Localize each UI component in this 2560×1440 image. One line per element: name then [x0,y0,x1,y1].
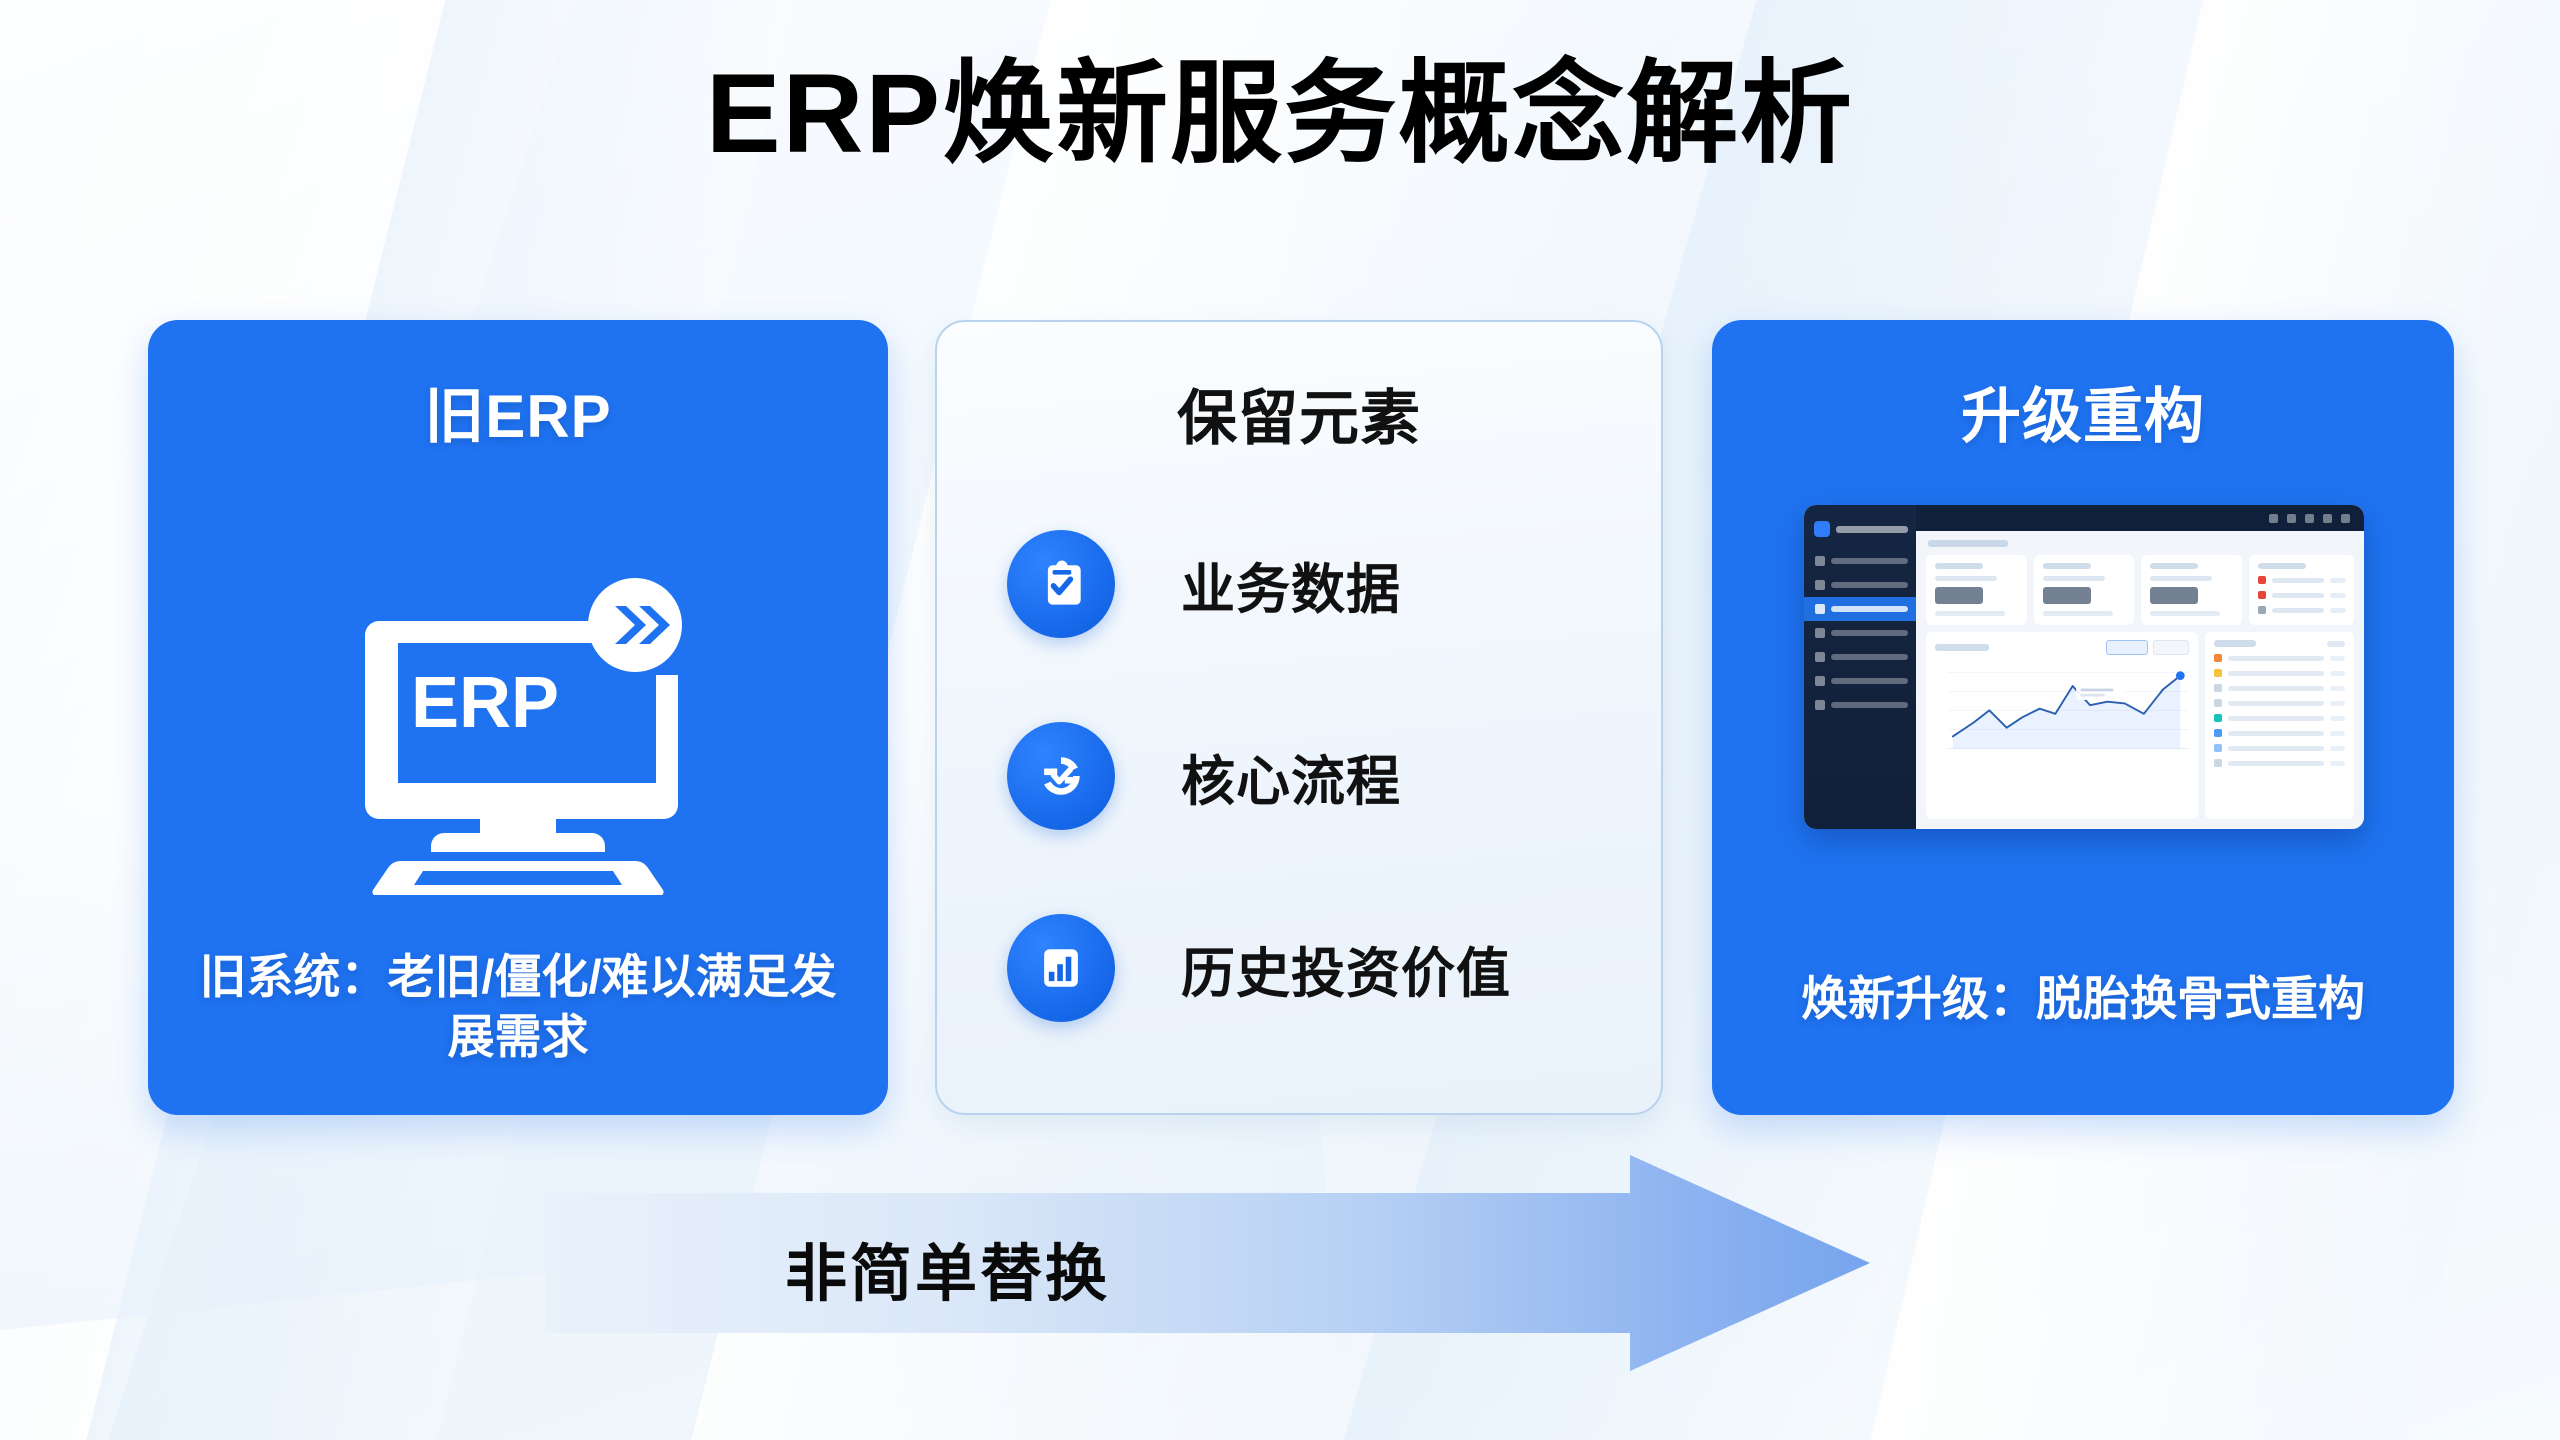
monitor-screen-label: ERP [411,663,559,743]
dashboard-category-list [2205,632,2354,819]
old-erp-monitor-icon: ERP [343,575,693,895]
dashboard-line-chart [1926,632,2198,819]
card-upgrade-rebuild: 升级重构 [1712,320,2454,1115]
list-item[interactable]: 历史投资价值 [1007,872,1621,1064]
chart-toggle-primary[interactable] [2106,640,2148,655]
page-title: ERP焕新服务概念解析 [0,52,2560,175]
list-item[interactable]: 核心流程 [1007,680,1621,872]
cycle-check-icon [1007,722,1115,830]
retained-elements-list: 业务数据 核心流程 [1007,488,1621,1064]
card-retained-elements: 保留元素 业务数据 [935,320,1663,1115]
bar-chart-icon [1007,914,1115,1022]
transition-arrow: 非简单替换 [545,1145,1875,1375]
kpi-card [2141,555,2242,625]
card-upgrade-rebuild-caption: 焕新升级：脱胎换骨式重构 [1746,969,2420,1029]
list-item-label: 历史投资价值 [1181,929,1511,1008]
dashboard-breadcrumb [1928,540,2008,547]
card-old-erp-title: 旧ERP [148,368,888,455]
kpi-card [2034,555,2135,625]
chart-toggle-secondary[interactable] [2153,640,2189,655]
kpi-rank-card [2249,555,2354,625]
dashboard-topbar [1916,505,2364,531]
dashboard-kpi-row [1916,547,2364,625]
dashboard-logo-icon [1814,521,1830,537]
dashboard-main-area [1916,505,2364,829]
list-item-label: 核心流程 [1181,737,1401,816]
card-upgrade-rebuild-title: 升级重构 [1712,368,2454,455]
card-retained-elements-title: 保留元素 [937,370,1661,457]
clipboard-check-icon [1007,530,1115,638]
dashboard-sidebar [1804,505,1916,829]
list-item-label: 业务数据 [1181,545,1401,624]
infographic-canvas: ERP焕新服务概念解析 旧ERP ERP 旧系统：老旧/僵化/难以满足发展需求 [0,0,2560,1440]
kpi-card [1926,555,2027,625]
modern-dashboard-screenshot [1804,505,2364,829]
list-item[interactable]: 业务数据 [1007,488,1621,680]
card-old-erp: 旧ERP ERP 旧系统：老旧/僵化/难以满足发展需求 [148,320,888,1115]
transition-arrow-label: 非简单替换 [785,1223,1110,1313]
card-old-erp-caption: 旧系统：老旧/僵化/难以满足发展需求 [182,947,854,1067]
